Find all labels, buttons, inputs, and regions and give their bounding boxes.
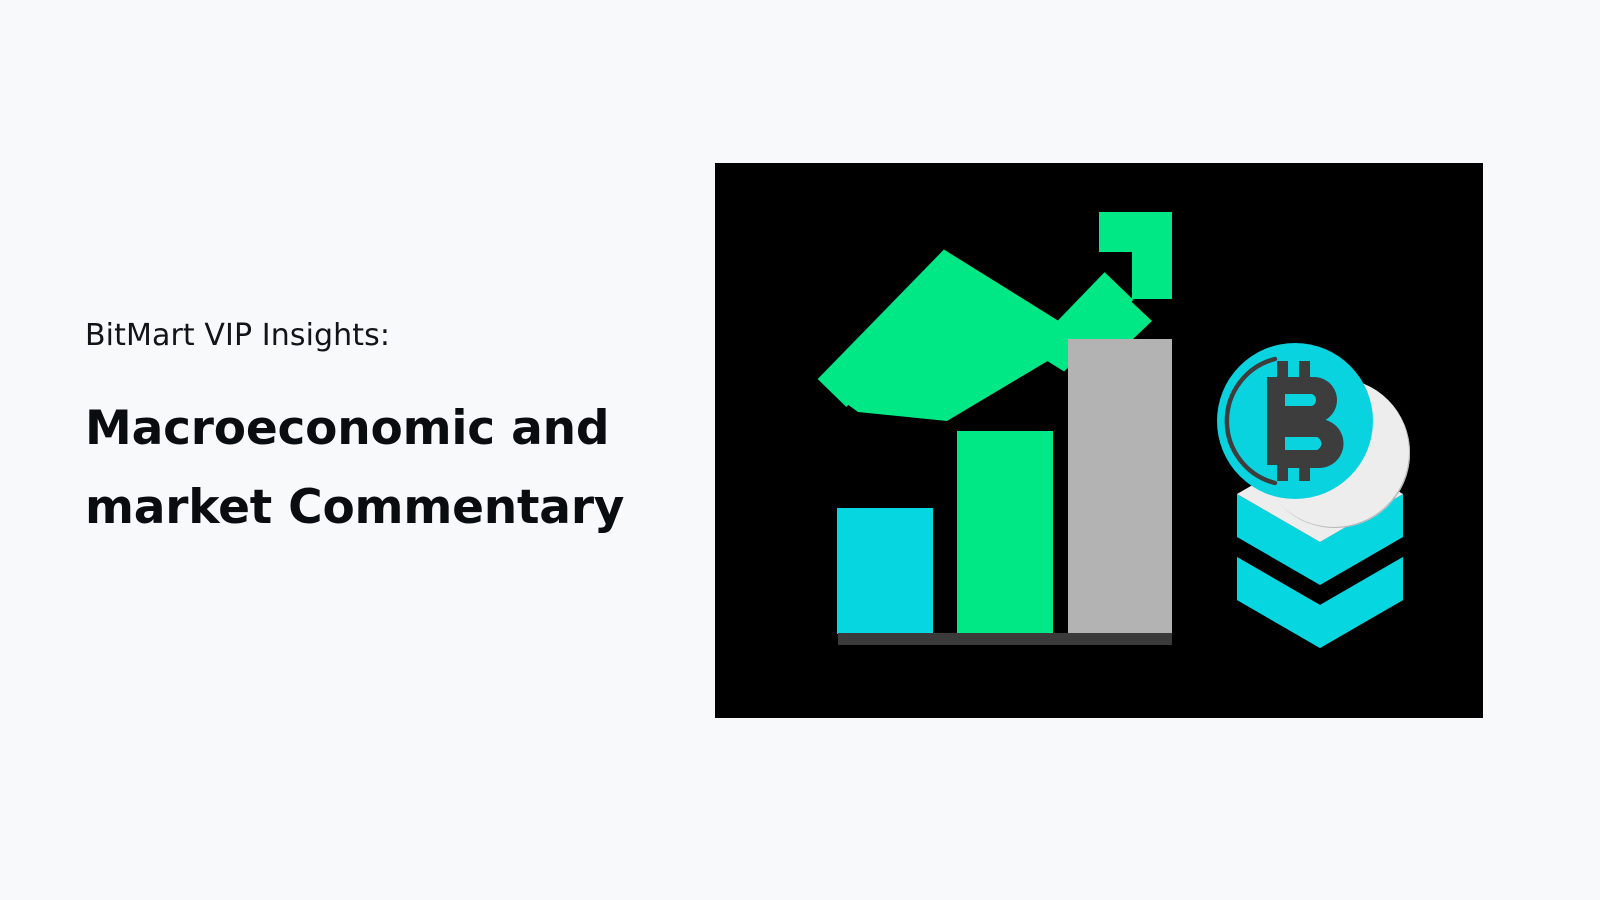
eyebrow-text: BitMart VIP Insights: — [85, 318, 685, 354]
chart-baseline — [838, 633, 1172, 645]
bar-3 — [1068, 339, 1172, 634]
page-title: Macroeconomic and market Commentary — [85, 390, 660, 548]
crypto-growth-illustration — [715, 163, 1483, 718]
text-column: BitMart VIP Insights: Macroeconomic and … — [85, 318, 685, 548]
bar-1 — [837, 508, 933, 634]
hero-graphic-panel — [715, 163, 1483, 718]
banner-root: BitMart VIP Insights: Macroeconomic and … — [0, 0, 1600, 900]
bar-2 — [957, 431, 1053, 634]
